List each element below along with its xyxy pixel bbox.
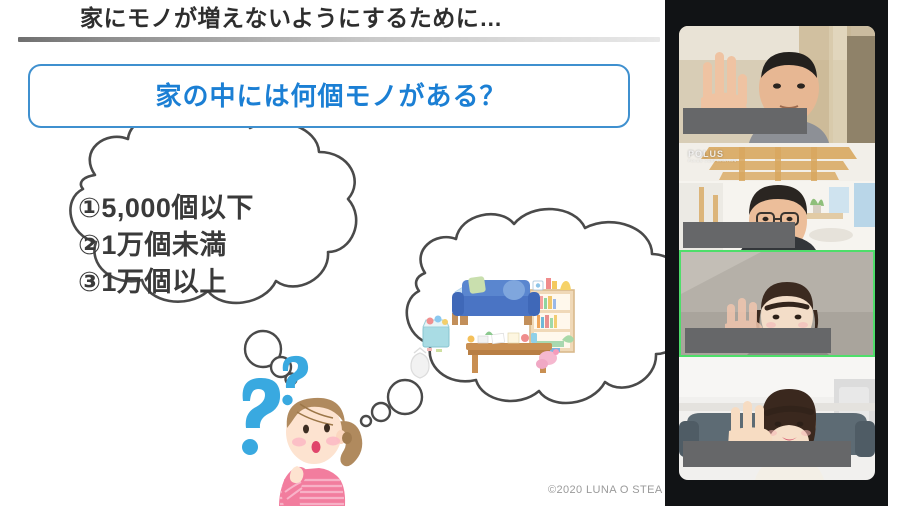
question-box: 家の中には何個モノがある？ <box>28 64 630 128</box>
video-tile-participant-1[interactable] <box>679 26 875 143</box>
copyright-notice: ©2020 LUNA O STEA <box>548 484 663 496</box>
girl-thinking-illustration <box>279 398 362 506</box>
slide-title: 家にモノが増えないようにするために… <box>80 3 640 33</box>
participant-name-redaction-1 <box>683 108 807 134</box>
answer-option-1: ①5,000個以下 <box>78 190 378 227</box>
answer-option-3: ③1万個以上 <box>78 264 378 301</box>
answer-options-list: ①5,000個以下 ②1万個未満 ③1万個以上 <box>78 190 378 301</box>
coffee-table <box>466 332 552 374</box>
toy-box <box>423 316 449 353</box>
question-mark-icon <box>242 356 308 455</box>
right-bubble-tail <box>361 380 422 426</box>
bookshelf <box>530 278 574 352</box>
answer-option-2: ②1万個未満 <box>78 227 378 264</box>
trash-bag <box>411 348 429 378</box>
question-box-text: 家の中には何個モノがある？ <box>30 66 632 126</box>
shirt-on-hanger <box>455 280 483 308</box>
right-thought-bubble <box>407 209 665 403</box>
screen-capture: 家にモノが増えないようにするために… <box>0 0 900 506</box>
panel-right-edge <box>888 0 900 506</box>
cluttered-room-illustration <box>411 276 574 378</box>
video-tile-participant-3[interactable] <box>679 250 875 357</box>
sofa <box>452 276 540 325</box>
scattered-toys <box>536 335 574 369</box>
participant-name-redaction-3 <box>685 328 831 353</box>
presentation-slide: 家にモノが増えないようにするために… <box>0 0 665 506</box>
polus-watermark: POLUS POLUS CORPORATION <box>688 149 737 163</box>
video-participant-panel: POLUS POLUS CORPORATION <box>665 0 888 506</box>
title-divider <box>18 37 660 42</box>
video-tile-participant-2[interactable]: POLUS POLUS CORPORATION <box>679 143 875 250</box>
participant-name-redaction-4 <box>683 441 851 467</box>
participant-name-redaction-2 <box>683 222 795 248</box>
left-bubble-tail <box>245 331 297 385</box>
polus-watermark-sub: POLUS CORPORATION <box>688 159 737 163</box>
video-tile-participant-4[interactable] <box>679 357 875 480</box>
